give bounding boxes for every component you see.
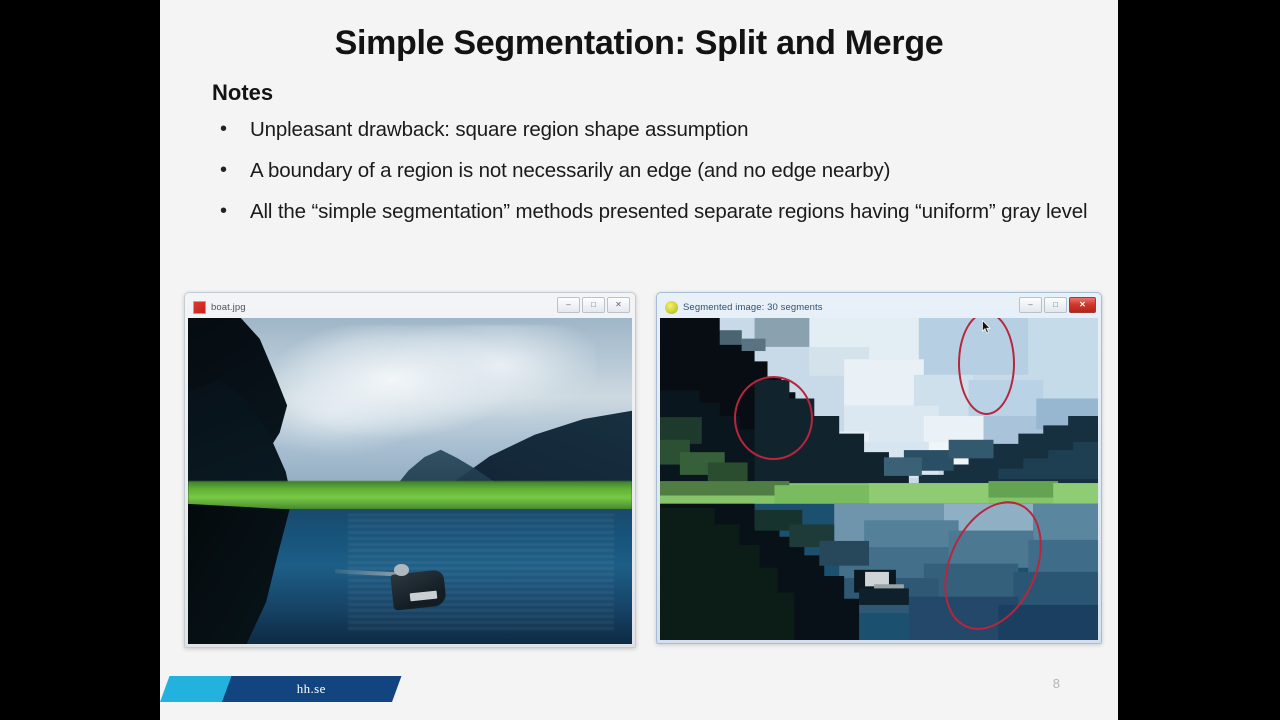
figure-area: boat.jpg – □ ✕: [160, 292, 1118, 648]
list-item-label: All the “simple segmentation” methods pr…: [250, 198, 1087, 225]
window-title-segmented: Segmented image: 30 segments: [683, 302, 823, 313]
window-title-boat: boat.jpg: [211, 302, 246, 313]
image-canvas-segmented: [660, 318, 1098, 640]
segmented-region-map: [660, 318, 1098, 640]
letterbox-left: [0, 0, 160, 720]
page-number: 8: [1053, 676, 1060, 691]
close-button[interactable]: ✕: [1069, 297, 1096, 313]
boat-bow: [394, 564, 408, 576]
image-canvas-original: [188, 318, 632, 644]
bullet-marker-icon: •: [212, 116, 250, 142]
close-icon: ✕: [615, 301, 622, 309]
photo-lake-landscape: [188, 318, 632, 644]
minimize-icon: –: [566, 301, 570, 309]
close-icon: ✕: [1079, 301, 1086, 309]
logo-label: hh.se: [297, 681, 326, 697]
minimize-icon: –: [1028, 301, 1032, 309]
image-file-icon: [193, 301, 206, 314]
window-segmented-result[interactable]: Segmented image: 30 segments – □ ✕: [656, 292, 1102, 644]
presentation-slide: Simple Segmentation: Split and Merge Not…: [160, 0, 1118, 720]
list-item: • Unpleasant drawback: square region sha…: [212, 116, 1112, 143]
titlebar-segmented[interactable]: Segmented image: 30 segments – □ ✕: [660, 296, 1098, 318]
mouse-pointer-icon: [982, 320, 991, 334]
matlab-figure-icon: [665, 301, 678, 314]
list-item: • A boundary of a region is not necessar…: [212, 157, 1112, 184]
window-controls-boat[interactable]: – □ ✕: [557, 297, 630, 313]
page-title: Simple Segmentation: Split and Merge: [160, 24, 1118, 63]
bullet-marker-icon: •: [212, 198, 250, 224]
logo-navy-shape: hh.se: [222, 676, 401, 702]
titlebar-boat[interactable]: boat.jpg – □ ✕: [188, 296, 632, 318]
minimize-button[interactable]: –: [557, 297, 580, 313]
maximize-icon: □: [1053, 301, 1058, 309]
list-item-label: A boundary of a region is not necessaril…: [250, 157, 890, 184]
maximize-button[interactable]: □: [582, 297, 605, 313]
maximize-icon: □: [591, 301, 596, 309]
list-item: • All the “simple segmentation” methods …: [212, 198, 1112, 225]
bullet-marker-icon: •: [212, 157, 250, 183]
maximize-button[interactable]: □: [1044, 297, 1067, 313]
video-player-frame: Simple Segmentation: Split and Merge Not…: [0, 0, 1280, 720]
footer-logo: hh.se: [160, 676, 490, 702]
letterbox-right: [1118, 0, 1280, 720]
window-boat-original[interactable]: boat.jpg – □ ✕: [184, 292, 636, 648]
minimize-button[interactable]: –: [1019, 297, 1042, 313]
bullet-list: • Unpleasant drawback: square region sha…: [212, 116, 1112, 239]
photo-segmented-regions: [660, 318, 1098, 640]
list-item-label: Unpleasant drawback: square region shape…: [250, 116, 748, 143]
notes-heading: Notes: [212, 80, 273, 106]
window-controls-segmented[interactable]: – □ ✕: [1019, 297, 1096, 313]
close-button[interactable]: ✕: [607, 297, 630, 313]
